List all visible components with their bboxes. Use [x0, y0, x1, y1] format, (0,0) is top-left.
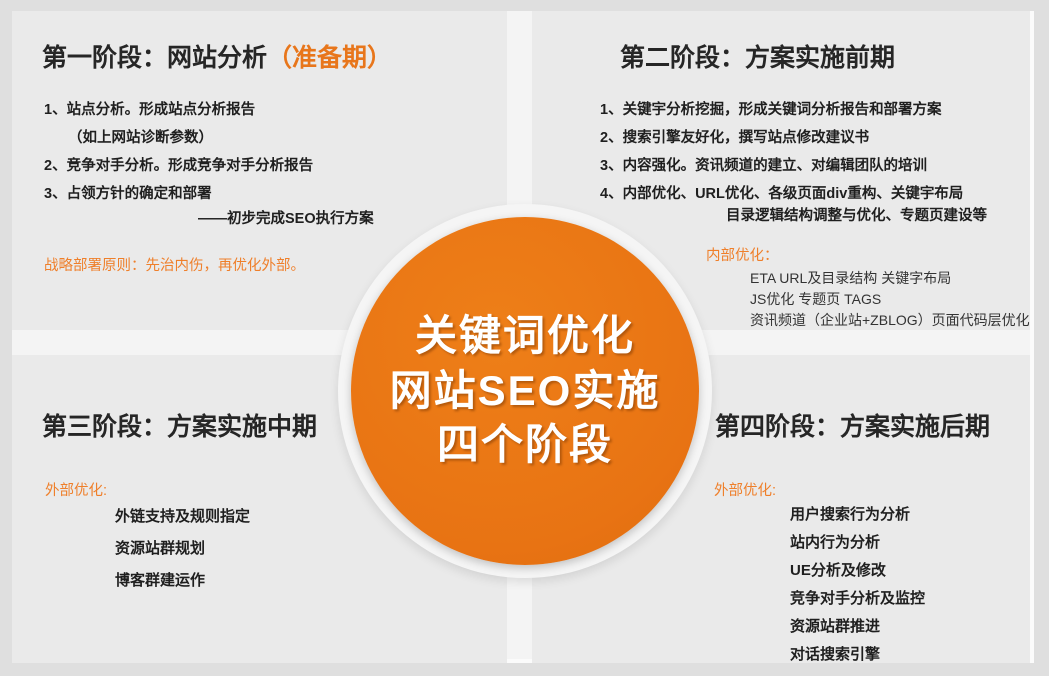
- stage-1-list: 1、站点分析。形成站点分析报告 （如上网站诊断参数） 2、竞争对手分析。形成竞争…: [44, 96, 313, 208]
- stage-3-title-main: 第三阶段：方案实施中期: [42, 413, 317, 441]
- center-circle: 关键词优化 网站SEO实施 四个阶段: [351, 217, 699, 565]
- stage-1-title-main: 第一阶段：网站分析: [42, 44, 267, 72]
- list-item: 站内行为分析: [790, 529, 925, 557]
- center-line-3: 四个阶段: [437, 418, 613, 473]
- stage-2-list: 1、关键宇分析挖掘，形成关键词分析报告和部署方案 2、搜索引擎友好化，撰写站点修…: [600, 96, 963, 208]
- stage-1-note: ——初步完成SEO执行方案: [198, 207, 374, 228]
- stage-2-note: 目录逻辑结构调整与优化、专题页建设等: [726, 204, 987, 225]
- stage-4-title-main: 第四阶段：方案实施后期: [715, 413, 990, 441]
- list-item: JS优化 专题页 TAGS: [750, 289, 1030, 310]
- right-edge-line: [1030, 11, 1034, 663]
- list-item: 用户搜索行为分析: [790, 501, 925, 529]
- list-item: 资源站群推进: [790, 613, 925, 641]
- center-line-2: 网站SEO实施: [390, 364, 661, 419]
- list-item: 资源站群规划: [115, 533, 250, 565]
- list-item: 1、站点分析。形成站点分析报告: [44, 96, 313, 124]
- stage-3-sublist: 外链支持及规则指定 资源站群规划 博客群建运作: [115, 501, 250, 597]
- list-item: 竞争对手分析及监控: [790, 585, 925, 613]
- list-item: 3、内容强化。资讯频道的建立、对编辑团队的培训: [600, 152, 963, 180]
- list-item: 2、搜索引擎友好化，撰写站点修改建议书: [600, 124, 963, 152]
- list-item: 外链支持及规则指定: [115, 501, 250, 533]
- stage-3-title: 第三阶段：方案实施中期: [42, 407, 317, 443]
- stage-3-external-opt-label: 外部优化:: [45, 479, 107, 500]
- list-item: （如上网站诊断参数）: [44, 124, 313, 152]
- stage-2-title-main: 第二阶段：方案实施前期: [620, 44, 895, 72]
- stage-2-sublist: ETA URL及目录结构 关键字布局 JS优化 专题页 TAGS 资讯频道（企业…: [750, 268, 1030, 330]
- stage-2-title: 第二阶段：方案实施前期: [620, 38, 895, 74]
- stage-2-internal-opt-label: 内部优化：: [706, 244, 779, 265]
- list-item: 资讯频道（企业站+ZBLOG）页面代码层优化: [750, 310, 1030, 330]
- stage-4-external-opt-label: 外部优化:: [714, 479, 776, 500]
- stage-1-title-accent: （准备期）: [267, 44, 392, 72]
- list-item: 3、占领方针的确定和部署: [44, 180, 313, 208]
- list-item: UE分析及修改: [790, 557, 925, 585]
- stage-1-principle: 战略部署原则：先治内伤，再优化外部。: [44, 254, 305, 275]
- stage-1-title: 第一阶段：网站分析（准备期）: [42, 38, 392, 74]
- list-item: ETA URL及目录结构 关键字布局: [750, 268, 1030, 289]
- list-item: 对话搜索引擎: [790, 641, 925, 663]
- list-item: 1、关键宇分析挖掘，形成关键词分析报告和部署方案: [600, 96, 963, 124]
- stage-4-title: 第四阶段：方案实施后期: [715, 407, 990, 443]
- list-item: 2、竞争对手分析。形成竞争对手分析报告: [44, 152, 313, 180]
- center-line-1: 关键词优化: [415, 309, 635, 364]
- stage-4-sublist: 用户搜索行为分析 站内行为分析 UE分析及修改 竞争对手分析及监控 资源站群推进…: [790, 501, 925, 663]
- list-item: 博客群建运作: [115, 565, 250, 597]
- slide-canvas: 第一阶段：网站分析（准备期） 1、站点分析。形成站点分析报告 （如上网站诊断参数…: [0, 0, 1049, 676]
